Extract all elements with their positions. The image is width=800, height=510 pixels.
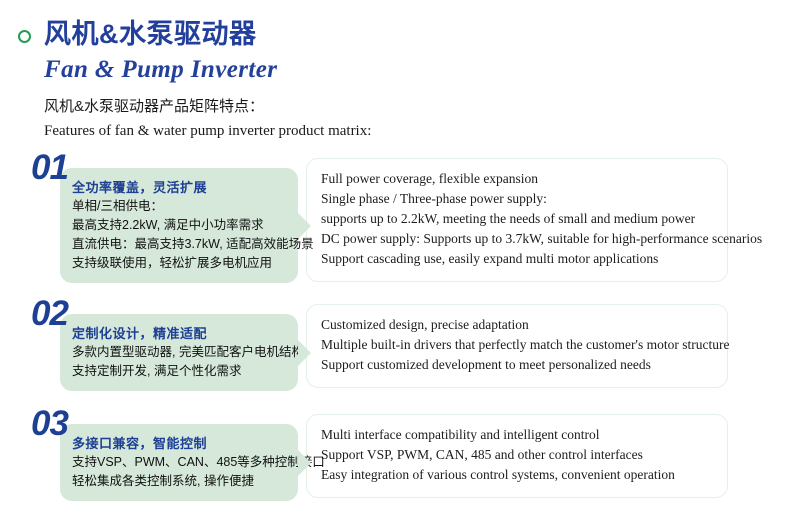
feature-card-en-01: Full power coverage, flexible expansion … (306, 158, 728, 282)
subtitle-en: Features of fan & water pump inverter pr… (44, 120, 371, 142)
feature-line-en: Multiple built-in drivers that perfectly… (321, 335, 713, 355)
feature-card-en-02: Customized design, precise adaptation Mu… (306, 304, 728, 388)
feature-index-02: 02 (31, 296, 68, 331)
feature-line-cn: 直流供电：最高支持3.7kW, 适配高效能场景 (72, 235, 286, 254)
title-block: 风机&水泵驱动器 Fan & Pump Inverter (44, 18, 277, 85)
feature-line-cn: 轻松集成各类控制系统, 操作便捷 (72, 472, 286, 491)
feature-line-cn: 最高支持2.2kW, 满足中小功率需求 (72, 216, 286, 235)
feature-heading-cn: 全功率覆盖，灵活扩展 (72, 178, 286, 197)
subtitle-cn: 风机&水泵驱动器产品矩阵特点： (44, 96, 371, 118)
feature-line-en: Easy integration of various control syst… (321, 465, 713, 485)
feature-line-en: supports up to 2.2kW, meeting the needs … (321, 209, 713, 229)
feature-line-en: DC power supply: Supports up to 3.7kW, s… (321, 229, 713, 249)
feature-line-cn: 支持定制开发, 满足个性化需求 (72, 362, 286, 381)
feature-line-en: Support VSP, PWM, CAN, 485 and other con… (321, 445, 713, 465)
feature-heading-cn: 定制化设计，精准适配 (72, 324, 286, 343)
feature-line-en: Full power coverage, flexible expansion (321, 169, 713, 189)
feature-card-cn-02: 定制化设计，精准适配 多款内置型驱动器, 完美匹配客户电机结构 支持定制开发, … (60, 314, 298, 391)
circle-outline-icon (18, 30, 31, 43)
feature-line-en: Multi interface compatibility and intell… (321, 425, 713, 445)
arrow-tab-icon (298, 450, 311, 476)
feature-card-cn-03: 多接口兼容，智能控制 支持VSP、PWM、CAN、485等多种控制接口 轻松集成… (60, 424, 298, 501)
feature-line-en: Support customized development to meet p… (321, 355, 713, 375)
arrow-tab-icon (298, 340, 311, 366)
title-row: 风机&水泵驱动器 Fan & Pump Inverter (18, 18, 277, 85)
feature-line-cn: 单相/三相供电： (72, 197, 286, 216)
feature-line-en: Single phase / Three-phase power supply: (321, 189, 713, 209)
feature-line-cn: 支持VSP、PWM、CAN、485等多种控制接口 (72, 453, 286, 472)
feature-heading-cn: 多接口兼容，智能控制 (72, 434, 286, 453)
page-title-en: Fan & Pump Inverter (44, 54, 277, 85)
feature-line-en: Support cascading use, easily expand mul… (321, 249, 713, 269)
subtitle-block: 风机&水泵驱动器产品矩阵特点： Features of fan & water … (44, 96, 371, 142)
feature-index-01: 01 (31, 150, 68, 185)
page-title-cn: 风机&水泵驱动器 (44, 18, 277, 51)
feature-card-en-03: Multi interface compatibility and intell… (306, 414, 728, 498)
feature-card-cn-01: 全功率覆盖，灵活扩展 单相/三相供电： 最高支持2.2kW, 满足中小功率需求 … (60, 168, 298, 283)
feature-index-03: 03 (31, 406, 68, 441)
arrow-tab-icon (298, 213, 311, 239)
feature-line-cn: 多款内置型驱动器, 完美匹配客户电机结构 (72, 343, 286, 362)
feature-line-cn: 支持级联使用，轻松扩展多电机应用 (72, 254, 286, 273)
feature-line-en: Customized design, precise adaptation (321, 315, 713, 335)
